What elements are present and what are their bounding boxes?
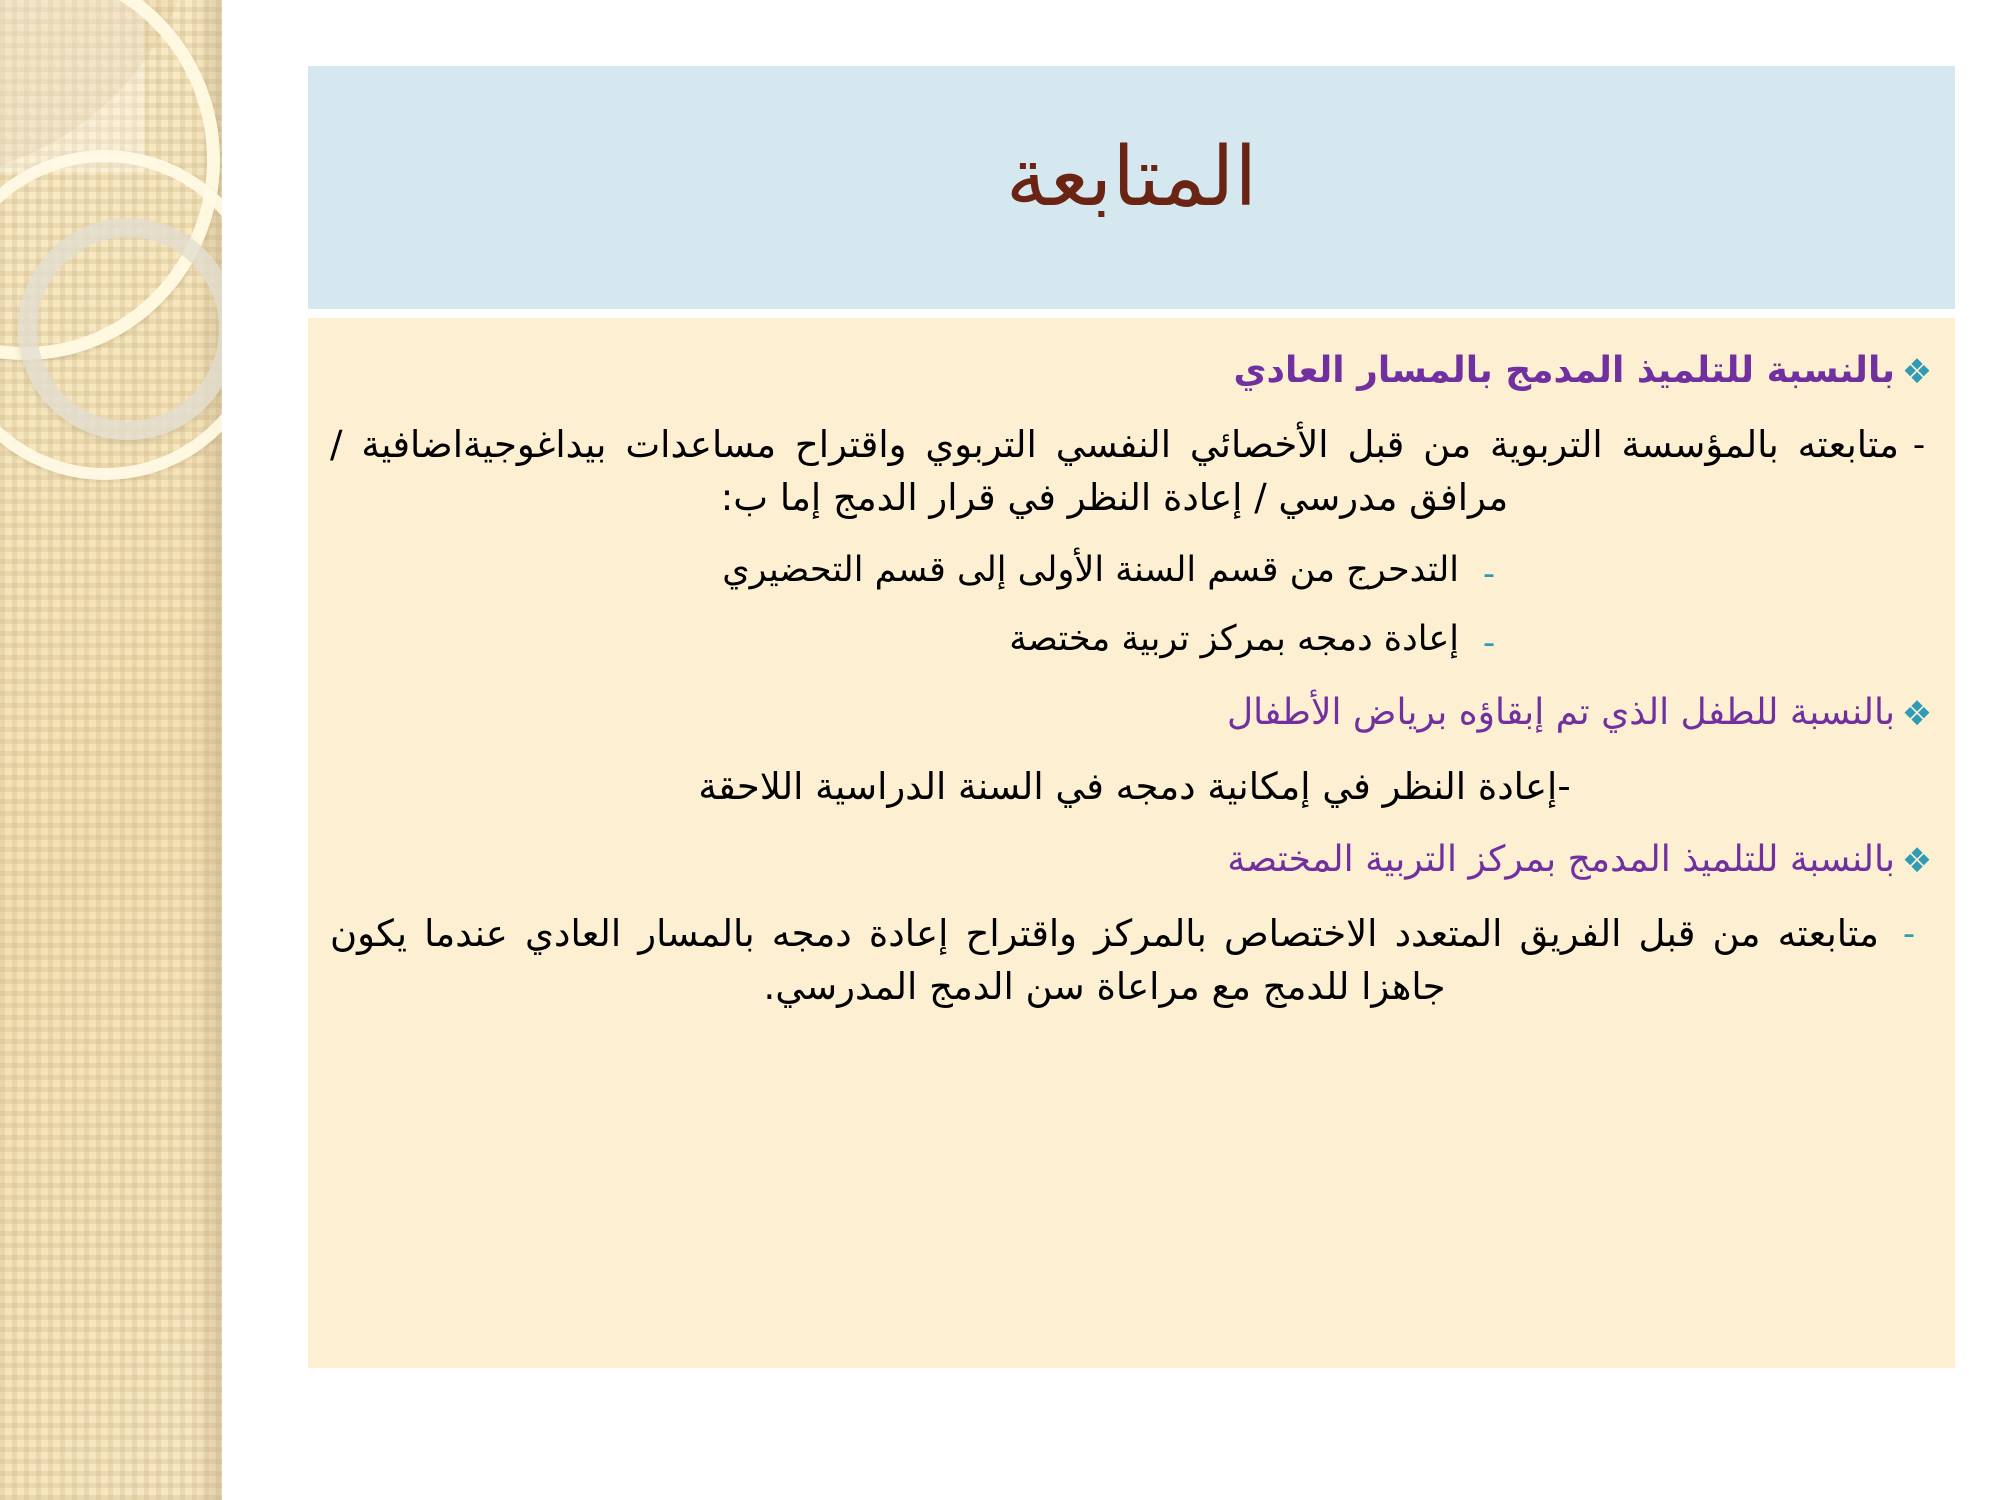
list-item: ❖ بالنسبة للتلميذ المدمج بمركز التربية ا… — [330, 837, 1939, 882]
list-item: - التدحرج من قسم السنة الأولى إلى قسم ال… — [330, 548, 1939, 595]
dash-bullet-icon: - — [1899, 419, 1939, 466]
diamond-bullet-icon: ❖ — [1895, 837, 1939, 882]
slide-body-panel: ❖ بالنسبة للتلميذ المدمج بالمسار العادي … — [308, 318, 1955, 1368]
list-item: - متابعته بالمؤسسة التربوية من قبل الأخص… — [330, 419, 1939, 524]
slide-title-band: المتابعة — [308, 66, 1955, 309]
dash-bullet-icon: - — [1459, 548, 1519, 595]
paragraph-text: -إعادة النظر في إمكانية دمجه في السنة ال… — [330, 761, 1939, 814]
presentation-slide: المتابعة ❖ بالنسبة للتلميذ المدمج بالمسا… — [0, 0, 2000, 1500]
dash-bullet-icon: - — [1459, 617, 1519, 664]
slide-title: المتابعة — [1006, 135, 1257, 239]
sub-item-text: إعادة دمجه بمركز تربية مختصة — [330, 617, 1459, 663]
bullet-heading-text: بالنسبة للتلميذ المدمج بالمسار العادي — [330, 348, 1895, 393]
list-item: - متابعته من قبل الفريق المتعدد الاختصاص… — [330, 908, 1939, 1013]
sub-item-text: التدحرج من قسم السنة الأولى إلى قسم التح… — [330, 548, 1459, 594]
list-item: ❖ بالنسبة للطفل الذي تم إبقاؤه برياض الأ… — [330, 690, 1939, 735]
list-item: - إعادة دمجه بمركز تربية مختصة — [330, 617, 1939, 664]
decorative-sidebar — [0, 0, 222, 1500]
paragraph-text: متابعته بالمؤسسة التربوية من قبل الأخصائ… — [330, 419, 1899, 524]
paragraph-text: متابعته من قبل الفريق المتعدد الاختصاص ب… — [330, 908, 1879, 1013]
decorative-circle-icon — [18, 218, 222, 440]
list-item: ❖ بالنسبة للتلميذ المدمج بالمسار العادي — [330, 348, 1939, 393]
bullet-heading-text: بالنسبة للطفل الذي تم إبقاؤه برياض الأطف… — [330, 690, 1895, 735]
diamond-bullet-icon: ❖ — [1895, 348, 1939, 393]
diamond-bullet-icon: ❖ — [1895, 690, 1939, 735]
list-item: -إعادة النظر في إمكانية دمجه في السنة ال… — [330, 761, 1939, 814]
bullet-heading-text: بالنسبة للتلميذ المدمج بمركز التربية الم… — [330, 837, 1895, 882]
dash-bullet-icon: - — [1879, 908, 1939, 955]
